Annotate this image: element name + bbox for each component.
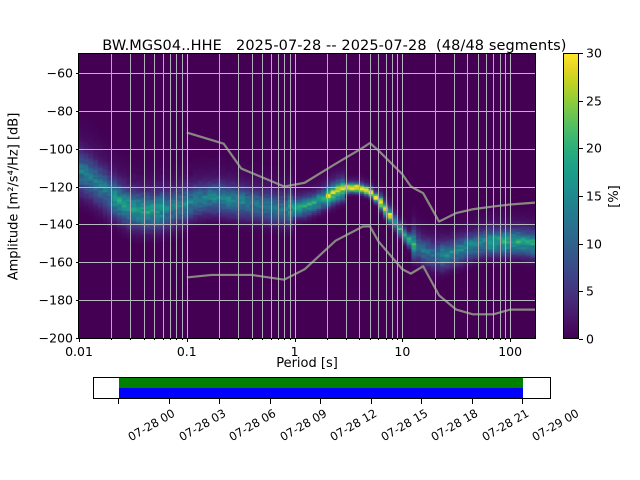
gridline-vertical-minor (252, 54, 253, 338)
gridline-vertical-minor (478, 54, 479, 338)
x-tick (386, 338, 387, 340)
x-tick (278, 338, 279, 340)
y-tick (76, 224, 80, 225)
colorbar-tick-label: 25 (586, 93, 602, 108)
x-tick (79, 338, 80, 342)
gridline-vertical-minor (290, 54, 291, 338)
gridline-vertical-minor (500, 54, 501, 338)
x-tick (182, 338, 183, 340)
timeline-segments-used (119, 388, 523, 398)
colorbar-tick (579, 101, 583, 102)
gridline-vertical-minor (467, 54, 468, 338)
x-tick (144, 338, 145, 340)
gridline-vertical-major (187, 54, 188, 338)
gridline-vertical-minor (271, 54, 272, 338)
x-tick (454, 338, 455, 340)
gridline-vertical-minor (111, 54, 112, 338)
x-tick (467, 338, 468, 340)
x-tick (170, 338, 171, 340)
timeline-tick (219, 399, 220, 404)
x-axis-label: Period [s] (78, 356, 536, 371)
x-tick (154, 338, 155, 340)
colorbar-tick (579, 53, 583, 54)
y-tick-label: −140 (39, 217, 73, 232)
x-tick (359, 338, 360, 340)
x-tick (262, 338, 263, 340)
timeline-tick (118, 399, 119, 404)
timeline-tick-label: 07-28 21 (479, 406, 531, 444)
gridline-vertical-minor (182, 54, 183, 338)
x-tick (327, 338, 328, 340)
plot-title-text: BW.MGS04..HHE 2025-07-28 -- 2025-07-28 (… (102, 38, 566, 54)
y-tick (76, 262, 80, 263)
colorbar (563, 53, 579, 339)
gridline-vertical-minor (505, 54, 506, 338)
y-tick-label: −120 (39, 179, 73, 194)
gridline-vertical-minor (454, 54, 455, 338)
timeline-tick (270, 399, 271, 404)
gridline-vertical-major (295, 54, 296, 338)
y-tick (76, 187, 80, 188)
colorbar-tick (579, 291, 583, 292)
timeline-tick-label: 07-28 06 (226, 406, 278, 444)
timeline-tick-label: 07-29 00 (529, 406, 581, 444)
gridline-vertical-minor (378, 54, 379, 338)
y-axis-label-text: Amplitude [m²/s⁴/Hz] [dB] (7, 112, 22, 280)
ppsd-axes[interactable]: −200−180−160−140−120−100−80−600.010.1110… (78, 53, 536, 339)
x-tick (493, 338, 494, 340)
gridline-vertical-minor (238, 54, 239, 338)
x-tick (510, 338, 511, 342)
x-tick (111, 338, 112, 340)
x-tick (346, 338, 347, 340)
x-tick (284, 338, 285, 340)
x-tick (176, 338, 177, 340)
x-tick (435, 338, 436, 340)
timeline-tick-label: 07-28 18 (428, 406, 480, 444)
y-tick-label: −160 (39, 255, 73, 270)
y-tick (76, 300, 80, 301)
timeline-tick (169, 399, 170, 404)
gridline-vertical-minor (435, 54, 436, 338)
x-tick (271, 338, 272, 340)
gridline-vertical-major (402, 54, 403, 338)
x-tick (295, 338, 296, 342)
y-tick-label: −100 (39, 141, 73, 156)
colorbar-tick (579, 244, 583, 245)
x-tick (392, 338, 393, 340)
gridline-vertical-minor (386, 54, 387, 338)
colorbar-tick-label: 20 (586, 141, 602, 156)
timeline-coverage-bar[interactable] (93, 377, 551, 399)
gridline-vertical-minor (486, 54, 487, 338)
gridline-vertical-minor (170, 54, 171, 338)
x-tick (478, 338, 479, 340)
colorbar-tick-label: 5 (586, 284, 594, 299)
colorbar-tick-label: 30 (586, 46, 602, 61)
gridline-vertical-minor (346, 54, 347, 338)
timeline-tick (320, 399, 321, 404)
gridline-vertical-minor (392, 54, 393, 338)
gridline-vertical-minor (262, 54, 263, 338)
timeline-tick (421, 399, 422, 404)
gridline-vertical-minor (327, 54, 328, 338)
x-tick (187, 338, 188, 342)
x-tick (290, 338, 291, 340)
gridline-vertical-minor (370, 54, 371, 338)
timeline-tick (522, 399, 523, 404)
timeline-tick-label: 07-28 09 (277, 406, 329, 444)
gridline-vertical-major (510, 54, 511, 338)
x-tick (402, 338, 403, 342)
gridline-vertical-minor (154, 54, 155, 338)
y-tick (76, 111, 80, 112)
gridline-vertical-minor (130, 54, 131, 338)
y-tick (76, 149, 80, 150)
gridline-vertical-minor (359, 54, 360, 338)
x-tick (238, 338, 239, 340)
gridline-vertical-minor (144, 54, 145, 338)
y-tick-label: −80 (47, 103, 73, 118)
timeline-data-coverage (119, 378, 523, 388)
colorbar-tick (579, 148, 583, 149)
colorbar-label-text: [%] (607, 185, 622, 208)
timeline-tick-label: 07-28 12 (327, 406, 379, 444)
x-tick (219, 338, 220, 340)
x-tick (505, 338, 506, 340)
x-tick (252, 338, 253, 340)
y-tick (76, 73, 80, 74)
gridline-vertical-minor (176, 54, 177, 338)
timeline-tick (472, 399, 473, 404)
x-tick (500, 338, 501, 340)
colorbar-gradient (564, 54, 578, 338)
gridline-vertical-minor (397, 54, 398, 338)
timeline-tick (371, 399, 372, 404)
y-tick-label: −60 (47, 65, 73, 80)
colorbar-tick-label: 10 (586, 236, 602, 251)
x-tick (130, 338, 131, 340)
timeline-tick-label: 07-28 00 (125, 406, 177, 444)
x-tick (163, 338, 164, 340)
timeline-tick-label: 07-28 03 (176, 406, 228, 444)
x-tick (486, 338, 487, 340)
x-tick (370, 338, 371, 340)
gridline-vertical-minor (493, 54, 494, 338)
gridline-vertical-minor (278, 54, 279, 338)
y-axis-label: Amplitude [m²/s⁴/Hz] [dB] (4, 53, 24, 339)
gridline-vertical-minor (284, 54, 285, 338)
gridline-vertical-minor (163, 54, 164, 338)
timeline-tick-label: 07-28 15 (378, 406, 430, 444)
colorbar-tick-label: 15 (586, 189, 602, 204)
y-tick-label: −180 (39, 293, 73, 308)
colorbar-tick-label: 0 (586, 332, 594, 347)
gridline-vertical-minor (219, 54, 220, 338)
x-tick (397, 338, 398, 340)
colorbar-label: [%] (604, 53, 624, 339)
colorbar-tick (579, 196, 583, 197)
colorbar-tick (579, 339, 583, 340)
x-tick (378, 338, 379, 340)
